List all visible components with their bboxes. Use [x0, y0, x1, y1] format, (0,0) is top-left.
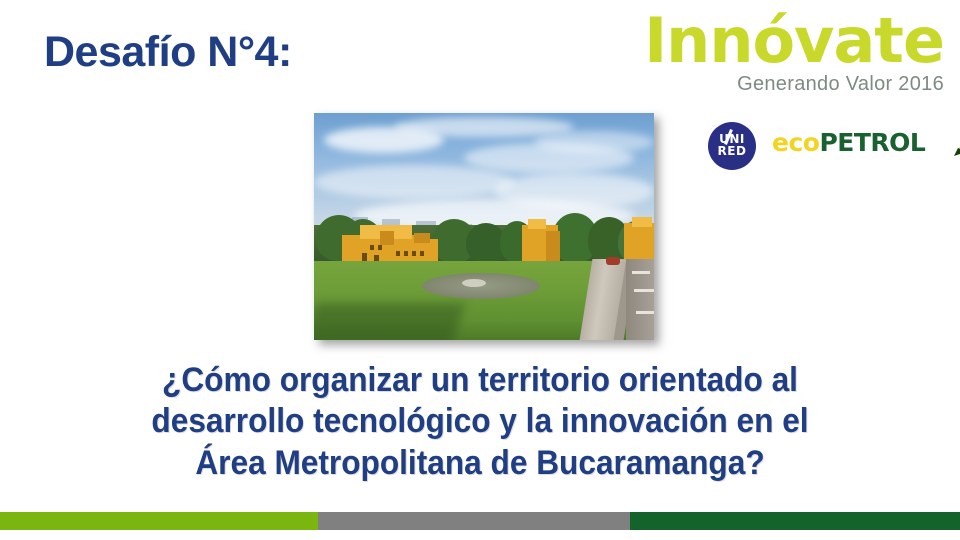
yellow-building — [632, 217, 652, 227]
slide-canvas: Desafío N°4: Innóvate Generando Valor 20… — [0, 0, 960, 540]
accent-segment-gray — [318, 512, 630, 530]
cloud — [314, 165, 514, 199]
page-title: Desafío N°4: — [44, 28, 292, 77]
campus-photo — [314, 113, 654, 340]
window — [404, 251, 408, 256]
unired-label-red: RED — [710, 146, 754, 157]
unired-logo: UNI RED — [708, 122, 756, 170]
window — [378, 245, 382, 250]
innovate-logo: Innóvate Generando Valor 2016 — [594, 12, 944, 96]
accent-segment-dark-green — [630, 512, 960, 530]
ecopetrol-label-petrol: PETROL — [819, 128, 925, 157]
ecopetrol-label-eco: eco — [772, 128, 819, 157]
yellow-building — [414, 233, 430, 243]
innovate-wordmark: Innóvate — [594, 12, 944, 71]
window — [420, 251, 424, 256]
yellow-building — [624, 223, 654, 261]
yellow-building — [380, 231, 394, 245]
question-line-1: ¿Cómo organizar un territorio orientado … — [71, 360, 889, 401]
plaza-marking — [462, 279, 486, 287]
car — [606, 257, 620, 265]
cloud — [534, 131, 654, 153]
iguana-icon — [954, 126, 960, 160]
ecopetrol-logo: ecoPETROL — [772, 128, 925, 162]
campus-photo-canvas — [314, 113, 654, 340]
sponsor-logo-row: UNI RED ecoPETROL — [700, 122, 950, 172]
window — [370, 245, 374, 250]
window — [396, 251, 400, 256]
road-marking — [634, 289, 654, 292]
yellow-building — [528, 219, 546, 229]
bottom-accent-bar — [0, 512, 960, 530]
accent-segment-light-green — [0, 512, 318, 530]
yellow-building — [546, 231, 560, 263]
question-line-3: Área Metropolitana de Bucaramanga? — [71, 443, 889, 484]
lawn-shadow — [314, 303, 465, 340]
road-marking — [632, 271, 650, 274]
question-text: ¿Cómo organizar un territorio orientado … — [71, 360, 889, 484]
road-marking — [636, 311, 654, 314]
window — [412, 251, 416, 256]
question-line-2: desarrollo tecnológico y la innovación e… — [71, 401, 889, 442]
